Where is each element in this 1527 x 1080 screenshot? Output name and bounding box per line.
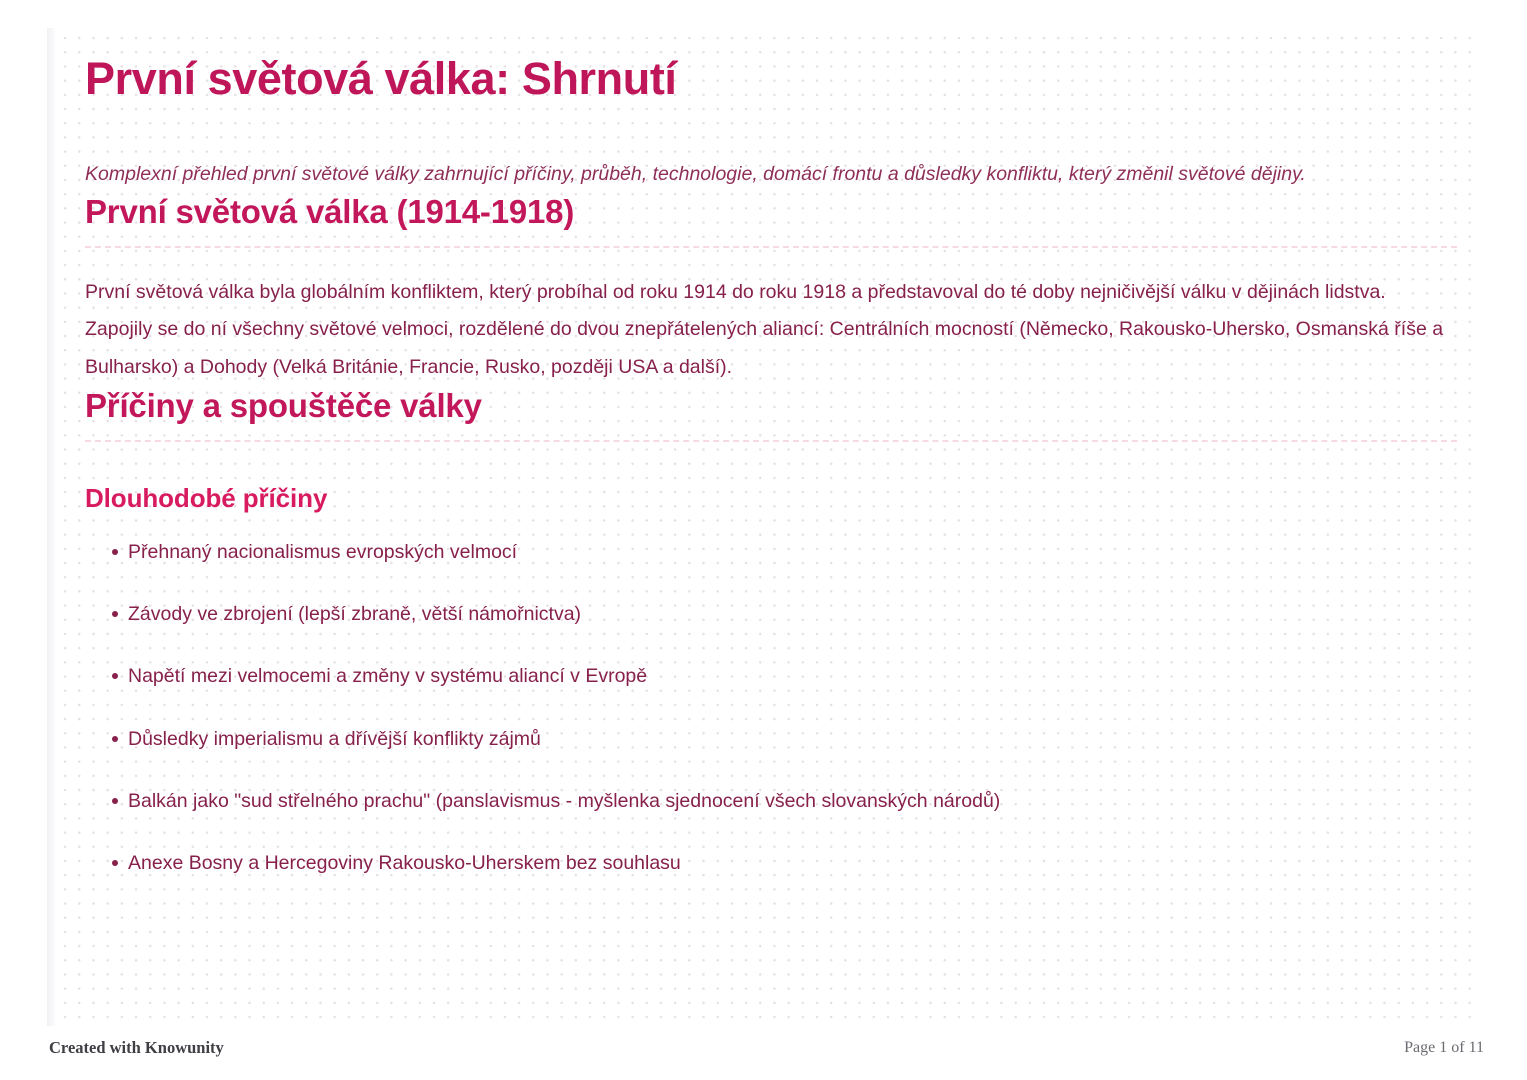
document-subtitle: Komplexní přehled první světové války za… xyxy=(85,156,1395,192)
longterm-causes-list: Přehnaný nacionalismus evropských velmoc… xyxy=(85,538,1457,879)
bullet-dot-icon xyxy=(112,611,118,617)
list-item-text: Anexe Bosny a Hercegoviny Rakousko-Uhers… xyxy=(128,852,681,874)
section-heading-causes: Příčiny a spouštěče války xyxy=(85,386,1457,442)
document-content: První světová válka: Shrnutí Komplexní p… xyxy=(85,52,1457,878)
page-footer: Created with Knowunity Page 1 of 11 xyxy=(0,1026,1527,1080)
list-item-text: Balkán jako "sud střelného prachu" (pans… xyxy=(128,790,1000,812)
section-heading-overview: První světová válka (1914-1918) xyxy=(85,192,1457,248)
list-item: Důsledky imperialismu a dřívější konflik… xyxy=(85,725,1457,754)
list-item-text: Napětí mezi velmocemi a změny v systému … xyxy=(128,665,647,687)
list-item: Anexe Bosny a Hercegoviny Rakousko-Uhers… xyxy=(85,849,1457,878)
list-item-text: Závody ve zbrojení (lepší zbraně, větší … xyxy=(128,603,581,625)
document-page: První světová válka: Shrnutí Komplexní p… xyxy=(0,0,1527,1080)
bullet-dot-icon xyxy=(112,736,118,742)
subsection-heading-longterm-causes: Dlouhodobé příčiny xyxy=(85,483,1457,514)
list-item: Přehnaný nacionalismus evropských velmoc… xyxy=(85,538,1457,567)
page-title: První světová válka: Shrnutí xyxy=(85,52,1457,106)
bullet-dot-icon xyxy=(112,860,118,866)
footer-page-number: Page 1 of 11 xyxy=(1404,1039,1484,1057)
footer-credit: Created with Knowunity xyxy=(49,1038,224,1058)
bullet-dot-icon xyxy=(112,549,118,555)
bullet-dot-icon xyxy=(112,673,118,679)
left-gutter-bar xyxy=(47,28,56,1026)
section-paragraph-overview: První světová válka byla globálním konfl… xyxy=(85,274,1457,386)
list-item: Napětí mezi velmocemi a změny v systému … xyxy=(85,662,1457,691)
list-item: Balkán jako "sud střelného prachu" (pans… xyxy=(85,787,1457,816)
list-item: Závody ve zbrojení (lepší zbraně, větší … xyxy=(85,600,1457,629)
bullet-dot-icon xyxy=(112,798,118,804)
list-item-text: Přehnaný nacionalismus evropských velmoc… xyxy=(128,541,517,563)
list-item-text: Důsledky imperialismu a dřívější konflik… xyxy=(128,728,541,750)
